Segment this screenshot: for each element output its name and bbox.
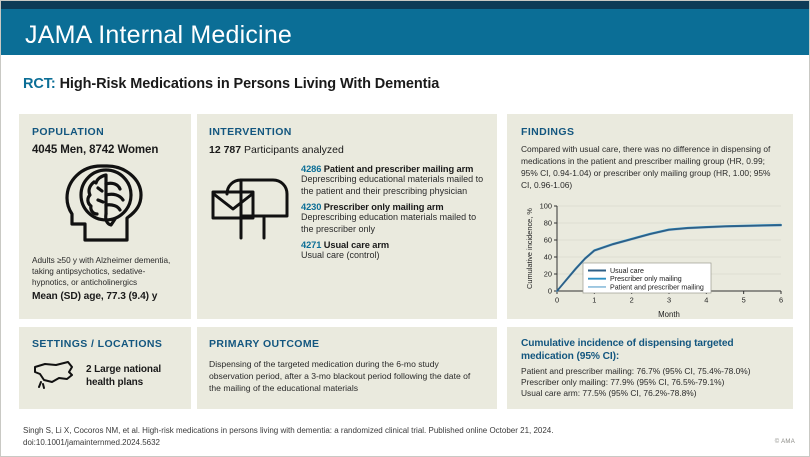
svg-text:5: 5 (742, 295, 746, 304)
panel-findings: FINDINGS Compared with usual care, there… (507, 114, 793, 319)
footer-citation: Singh S, Li X, Cocoros NM, et al. High-r… (23, 426, 553, 435)
svg-text:3: 3 (667, 295, 671, 304)
panel-settings-locations: SETTINGS / LOCATIONS 2 Large national he… (19, 327, 191, 409)
study-type-label: RCT: (23, 76, 56, 92)
infographic-page: JAMA Internal Medicine RCT: High-Risk Me… (0, 0, 810, 457)
arm-item: 4271 Usual care arm Usual care (control) (301, 240, 485, 262)
page-title: RCT: High-Risk Medications in Persons Li… (23, 76, 439, 92)
findings-heading: FINDINGS (521, 126, 781, 138)
result-line: Patient and prescriber mailing: 76.7% (9… (521, 366, 781, 377)
population-counts: 4045 Men, 8742 Women (32, 144, 178, 156)
head-brain-icon (32, 162, 178, 249)
settings-heading: SETTINGS / LOCATIONS (32, 338, 179, 350)
study-title-text: High-Risk Medications in Persons Living … (60, 76, 440, 92)
footer: Singh S, Li X, Cocoros NM, et al. High-r… (1, 419, 810, 457)
intervention-arms: 4286 Patient and prescriber mailing arm … (301, 164, 485, 267)
result-title: Cumulative incidence of dispensing targe… (521, 337, 781, 364)
intervention-heading: INTERVENTION (209, 126, 485, 138)
svg-text:20: 20 (544, 269, 552, 278)
primary-outcome-heading: PRIMARY OUTCOME (209, 338, 484, 350)
svg-text:1: 1 (592, 295, 596, 304)
panel-result: Cumulative incidence of dispensing targe… (507, 327, 793, 409)
svg-text:6: 6 (779, 295, 783, 304)
findings-summary: Compared with usual care, there was no d… (521, 144, 781, 192)
masthead-bar: JAMA Internal Medicine (1, 9, 810, 55)
footer-citation-block: Singh S, Li X, Cocoros NM, et al. High-r… (23, 425, 723, 449)
svg-text:Month: Month (658, 310, 680, 319)
arm-count: 4230 (301, 202, 321, 212)
population-note: Adults ≥50 y with Alzheimer dementia, ta… (32, 255, 178, 288)
primary-outcome-text: Dispensing of the targeted medication du… (209, 358, 484, 395)
panel-population: POPULATION 4045 Men, 8742 Women (19, 114, 191, 319)
arm-description: Usual care (control) (301, 250, 485, 262)
svg-text:40: 40 (544, 252, 552, 261)
settings-label: 2 Large national health plans (86, 364, 179, 389)
arm-count: 4286 (301, 164, 321, 174)
mailbox-envelope-icon (209, 164, 293, 267)
usa-map-icon (32, 358, 78, 395)
result-lines: Patient and prescriber mailing: 76.7% (9… (521, 366, 781, 400)
svg-text:0: 0 (548, 286, 552, 295)
panel-primary-outcome: PRIMARY OUTCOME Dispensing of the target… (197, 327, 497, 409)
result-line: Prescriber only mailing: 77.9% (95% CI, … (521, 377, 781, 388)
arm-count: 4271 (301, 240, 321, 250)
footer-doi: doi:10.1001/jamainternmed.2024.5632 (23, 438, 160, 447)
copyright-credit: © AMA (775, 439, 795, 445)
arm-name: Prescriber only mailing arm (324, 202, 444, 212)
participants-analyzed: 12 787 Participants analyzed (209, 144, 485, 156)
arm-title: 4286 Patient and prescriber mailing arm (301, 164, 485, 174)
arm-name: Usual care arm (324, 240, 389, 250)
chart-canvas: 0204060801000123456MonthCumulative incid… (523, 199, 791, 319)
participants-label: Participants analyzed (244, 144, 344, 156)
population-heading: POPULATION (32, 126, 178, 138)
svg-text:0: 0 (555, 295, 559, 304)
population-mean-age: Mean (SD) age, 77.3 (9.4) y (32, 291, 178, 302)
arm-item: 4230 Prescriber only mailing arm Depresc… (301, 202, 485, 235)
arm-description: Deprescribing educational materials mail… (301, 174, 485, 197)
svg-text:60: 60 (544, 235, 552, 244)
arm-item: 4286 Patient and prescriber mailing arm … (301, 164, 485, 197)
arm-description: Deprescribing education materials mailed… (301, 212, 485, 235)
arm-title: 4230 Prescriber only mailing arm (301, 202, 485, 212)
svg-text:2: 2 (630, 295, 634, 304)
result-line: Usual care arm: 77.5% (95% CI, 76.2%-78.… (521, 388, 781, 399)
svg-text:Patient and prescriber mailing: Patient and prescriber mailing (610, 283, 704, 291)
panel-intervention: INTERVENTION 12 787 Participants analyze… (197, 114, 497, 319)
svg-text:Usual care: Usual care (610, 267, 644, 275)
journal-title: JAMA Internal Medicine (25, 21, 292, 50)
svg-text:4: 4 (704, 295, 708, 304)
top-accent-strip (1, 1, 810, 9)
arm-name: Patient and prescriber mailing arm (324, 164, 474, 174)
participants-number: 12 787 (209, 144, 241, 156)
svg-text:Prescriber only mailing: Prescriber only mailing (610, 275, 682, 283)
svg-text:Cumulative incidence, %: Cumulative incidence, % (525, 207, 534, 288)
svg-text:100: 100 (540, 201, 552, 210)
cumulative-incidence-chart: 0204060801000123456MonthCumulative incid… (523, 199, 791, 319)
arm-title: 4271 Usual care arm (301, 240, 485, 250)
svg-text:80: 80 (544, 218, 552, 227)
